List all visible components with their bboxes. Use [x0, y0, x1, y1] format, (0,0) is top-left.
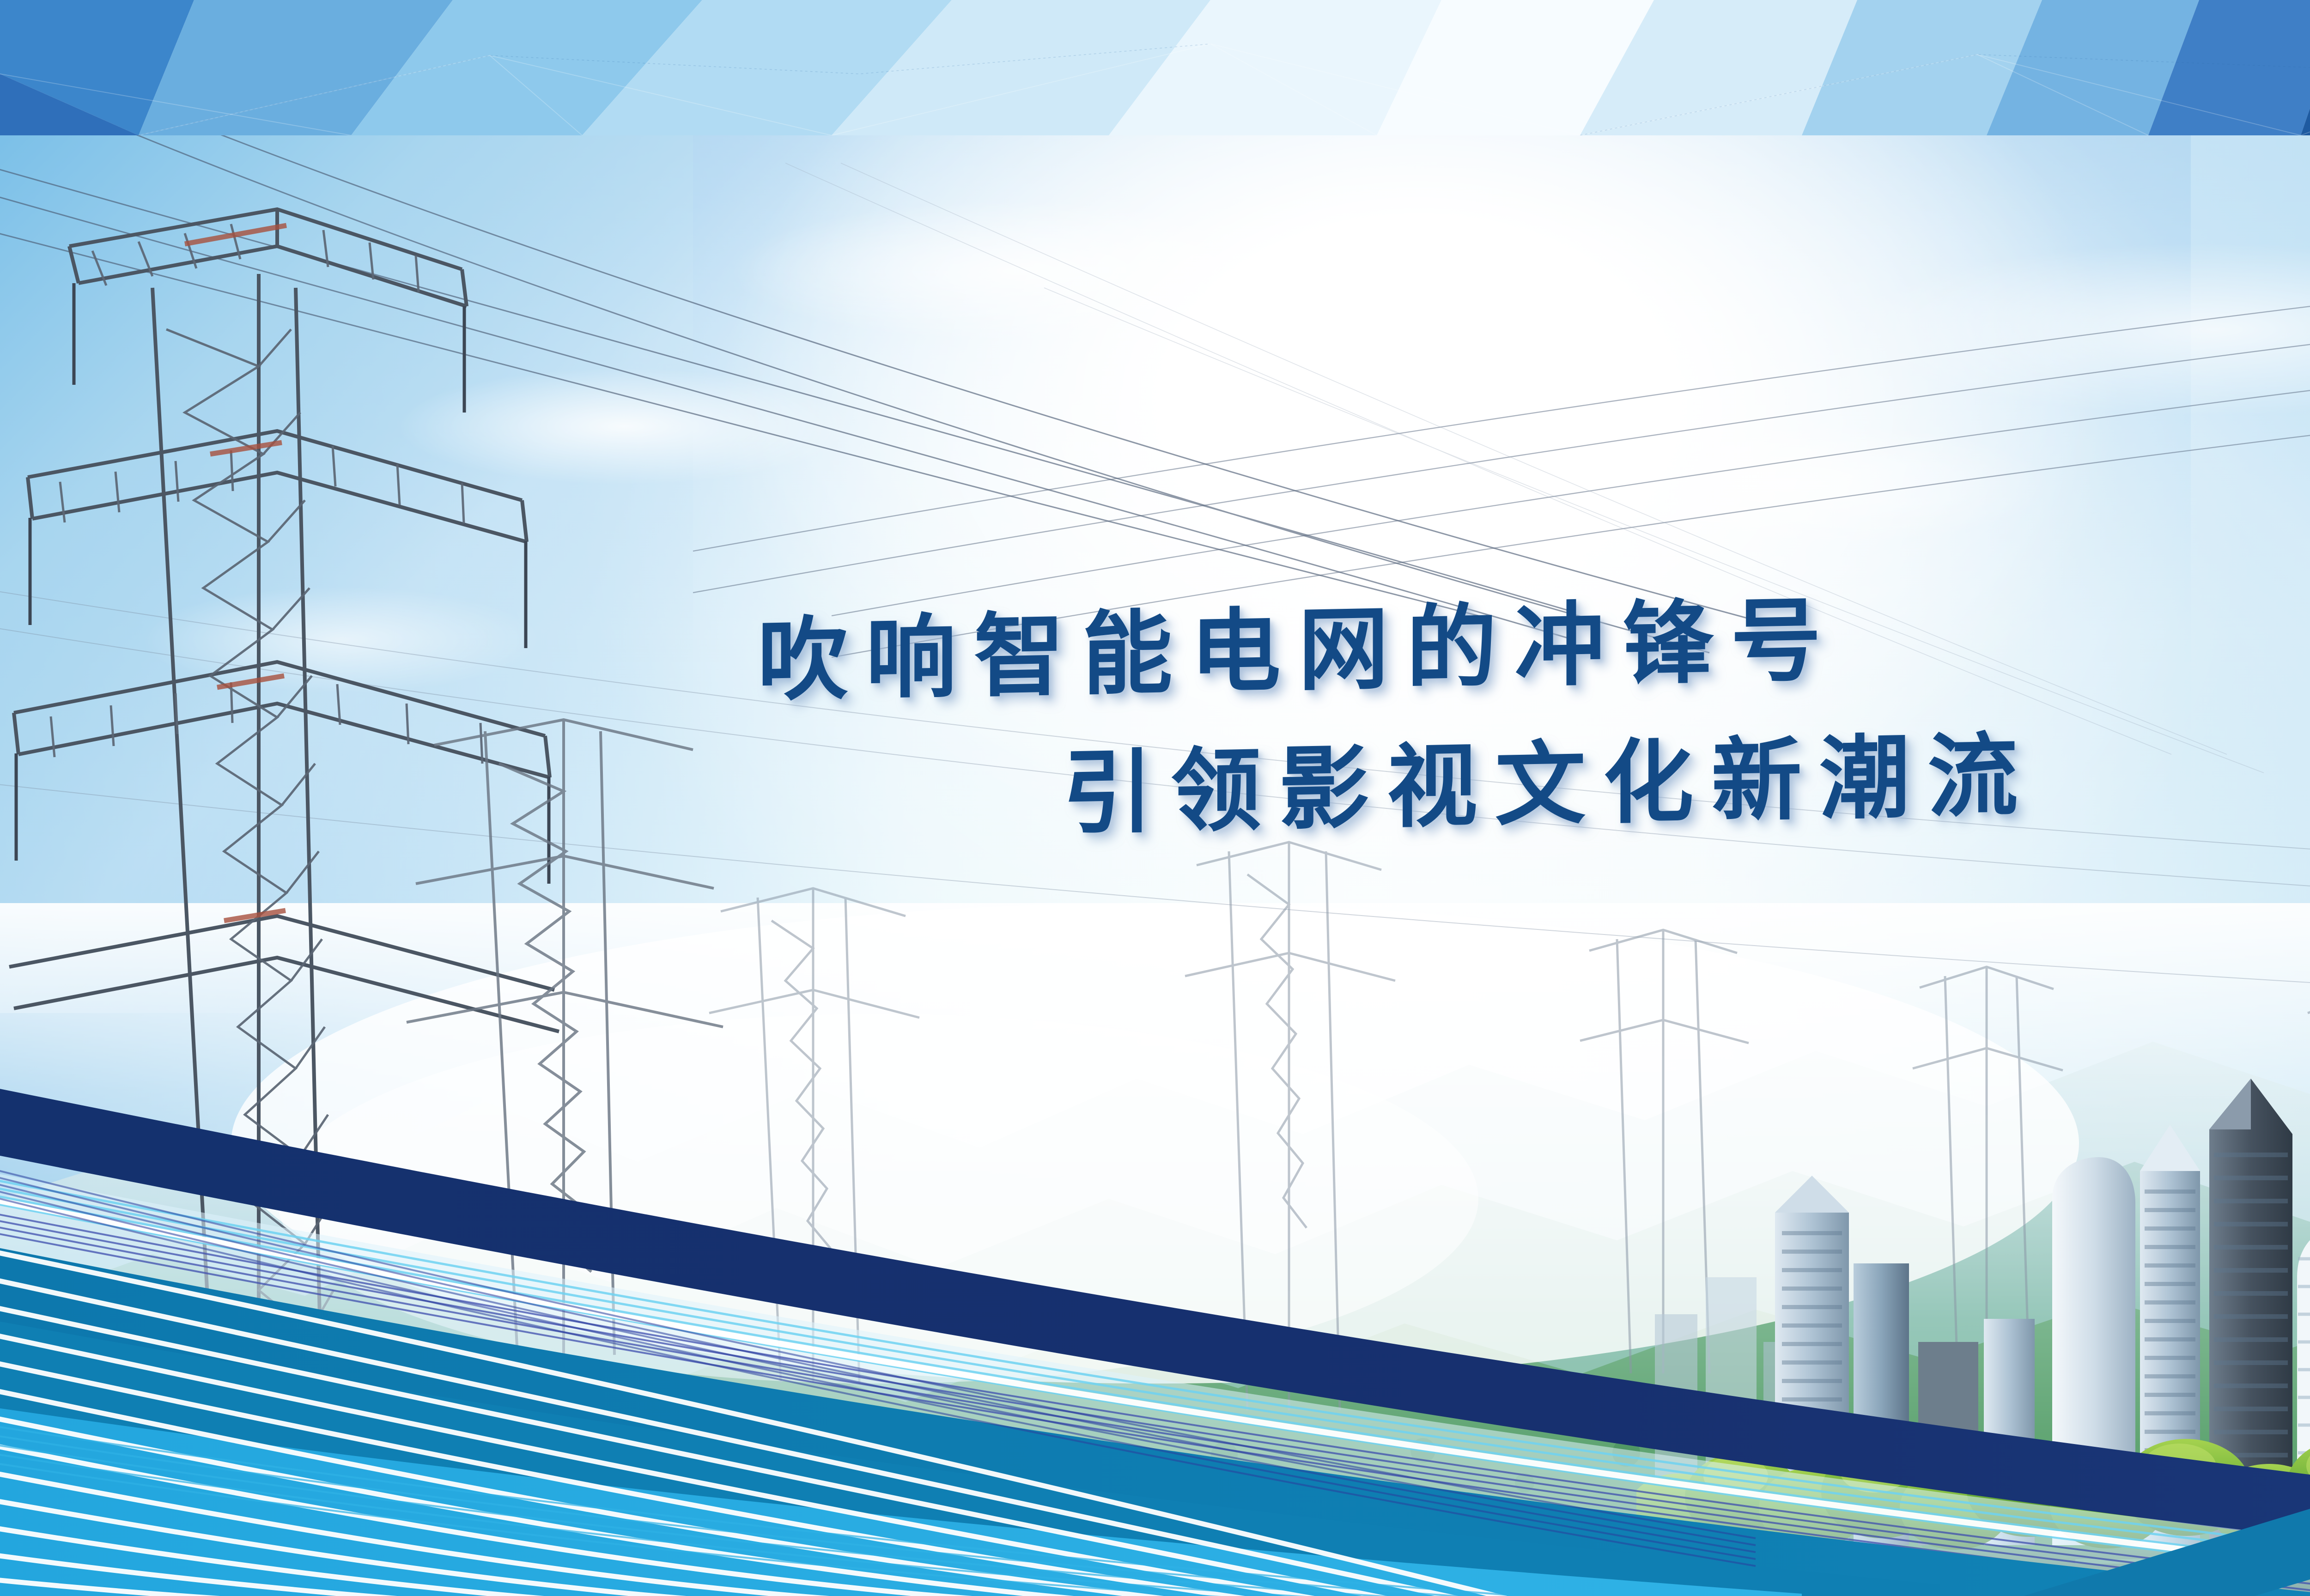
banner-title: 吹响智能电网的冲锋号 引领影视文化新潮流	[0, 536, 2310, 905]
title-line-2: 引领影视文化新潮流	[1063, 730, 2036, 839]
city-skyline	[1636, 1019, 2310, 1596]
building-top	[1775, 1176, 1849, 1213]
top-geometric-band	[0, 0, 2310, 135]
building-top	[2209, 1079, 2251, 1129]
banner-root: 吹响智能电网的冲锋号 引领影视文化新潮流	[0, 0, 2310, 1596]
polygon-group	[0, 0, 2310, 135]
low-poly-svg	[0, 0, 2310, 135]
building-top	[2140, 1125, 2200, 1171]
city-svg	[1636, 1019, 2310, 1596]
title-line-1: 吹响智能电网的冲锋号	[758, 595, 1839, 706]
